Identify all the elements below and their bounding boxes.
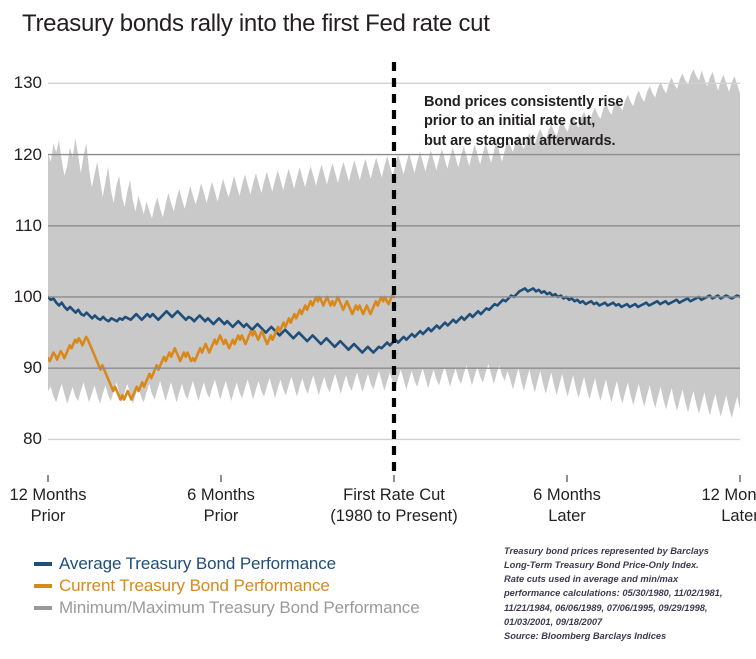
y-axis-tick-130: 130 — [8, 73, 42, 93]
footnote-line-7: Source: Bloomberg Barclays Indices — [504, 629, 754, 643]
footnote-line-5: 11/21/1984, 06/06/1989, 07/06/1995, 09/2… — [504, 601, 754, 615]
y-axis-tick-90: 90 — [8, 358, 42, 378]
x-axis-tick-label-0-line1: 12 Months — [9, 485, 86, 506]
x-axis-tick-label-4: 12 MonthsLater — [701, 485, 756, 527]
legend-label-current: Current Treasury Bond Performance — [59, 576, 330, 596]
legend-swatch-minmax — [34, 606, 52, 610]
x-axis-tick-label-1: 6 MonthsPrior — [187, 485, 255, 527]
footnote-source: Treasury bond prices represented by Barc… — [504, 544, 754, 643]
chart-legend: Average Treasury Bond Performance Curren… — [34, 553, 420, 619]
x-axis-tick-label-2-line1: First Rate Cut — [330, 485, 458, 506]
x-axis-tick-label-0: 12 MonthsPrior — [9, 485, 86, 527]
legend-label-average: Average Treasury Bond Performance — [59, 554, 336, 574]
chart-page: Treasury bonds rally into the first Fed … — [0, 0, 756, 659]
legend-item-minmax: Minimum/Maximum Treasury Bond Performanc… — [34, 597, 420, 619]
y-axis-tick-120: 120 — [8, 145, 42, 165]
annotation-line-1: Bond prices consistently rise — [424, 93, 664, 112]
x-axis-tick-label-1-line1: 6 Months — [187, 485, 255, 506]
y-axis-tick-110: 110 — [8, 216, 42, 236]
x-axis-tick-label-1-line2: Prior — [187, 506, 255, 527]
annotation-line-3: but are stagnant afterwards. — [424, 132, 664, 151]
x-axis-tick-label-2-line2: (1980 to Present) — [330, 506, 458, 527]
annotation-line-2: prior to an initial rate cut, — [424, 112, 664, 131]
footnote-line-6: 01/03/2001, 09/18/2007 — [504, 615, 754, 629]
y-axis-tick-80: 80 — [8, 429, 42, 449]
footnote-line-3: Rate cuts used in average and min/max — [504, 572, 754, 586]
legend-item-average: Average Treasury Bond Performance — [34, 553, 420, 575]
x-axis-tick-label-4-line1: 12 Months — [701, 485, 756, 506]
legend-swatch-current — [34, 584, 52, 588]
legend-item-current: Current Treasury Bond Performance — [34, 575, 420, 597]
footnote-line-2: Long-Term Treasury Bond Price-Only Index… — [504, 558, 754, 572]
legend-swatch-average — [34, 562, 52, 566]
x-axis-tick-label-3-line2: Later — [533, 506, 601, 527]
annotation-callout: Bond prices consistently rise prior to a… — [424, 93, 664, 151]
x-axis-tick-label-3: 6 MonthsLater — [533, 485, 601, 527]
y-axis-tick-100: 100 — [8, 287, 42, 307]
legend-label-minmax: Minimum/Maximum Treasury Bond Performanc… — [59, 598, 420, 618]
footnote-line-1: Treasury bond prices represented by Barc… — [504, 544, 754, 558]
x-axis-tick-label-2: First Rate Cut(1980 to Present) — [330, 485, 458, 527]
x-axis-tick-label-3-line1: 6 Months — [533, 485, 601, 506]
x-axis-tick-label-4-line2: Later — [701, 506, 756, 527]
footnote-line-4: performance calculations: 05/30/1980, 11… — [504, 586, 754, 600]
x-axis-tick-label-0-line2: Prior — [9, 506, 86, 527]
